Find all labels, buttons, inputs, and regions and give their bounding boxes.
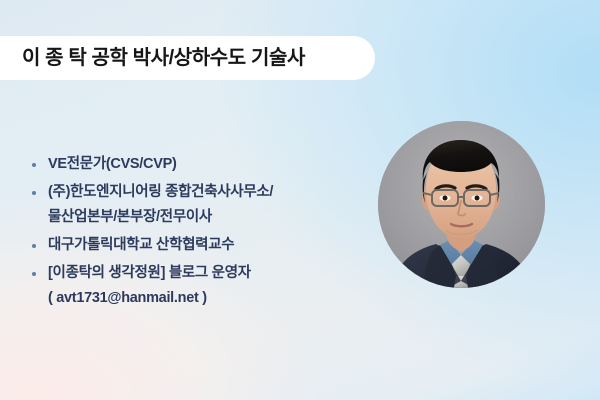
list-item-line-2: ( avt1731@hanmail.net ) [48, 286, 358, 311]
avatar [378, 121, 545, 288]
credentials-list: VE전문가(CVS/CVP) (주)한도엔지니어링 종합건축사사무소/ 물산업본… [28, 152, 358, 314]
title-bar: 이 종 탁 공학 박사/상하수도 기술사 [0, 36, 375, 80]
list-item: (주)한도엔지니어링 종합건축사사무소/ 물산업본부/본부장/전무이사 [28, 180, 358, 230]
portrait-photo [378, 121, 545, 288]
list-item-line-1: [이종탁의 생각정원] 블로그 운영자 [48, 261, 358, 286]
list-item: VE전문가(CVS/CVP) [28, 152, 358, 177]
list-item-line-1: VE전문가(CVS/CVP) [48, 152, 358, 177]
list-item-line-1: 대구가톨릭대학교 산학협력교수 [48, 233, 358, 258]
list-item: [이종탁의 생각정원] 블로그 운영자 ( avt1731@hanmail.ne… [28, 261, 358, 311]
page-title: 이 종 탁 공학 박사/상하수도 기술사 [22, 48, 305, 68]
list-item-line-2: 물산업본부/본부장/전무이사 [48, 205, 358, 230]
profile-slide: 이 종 탁 공학 박사/상하수도 기술사 VE전문가(CVS/CVP) (주)한… [0, 0, 600, 400]
list-item-line-1: (주)한도엔지니어링 종합건축사사무소/ [48, 180, 358, 205]
list-item: 대구가톨릭대학교 산학협력교수 [28, 233, 358, 258]
